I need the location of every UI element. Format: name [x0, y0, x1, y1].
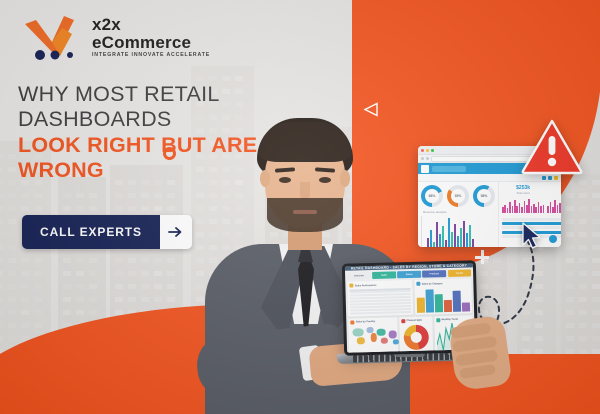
bar: [448, 218, 450, 247]
building-window: [89, 297, 97, 302]
bar: [445, 240, 447, 247]
building-window: [76, 310, 84, 315]
mini-bar: [531, 206, 533, 213]
mini-bar: [502, 207, 504, 213]
building-window: [128, 297, 136, 302]
building-window: [0, 323, 3, 328]
bar: [436, 222, 438, 247]
kpi-group: $253kTotal orders$253kTotal revenue: [502, 185, 561, 195]
card-title: Sales by Category: [422, 282, 443, 286]
building-window: [8, 219, 16, 224]
building-window: [196, 271, 204, 276]
toolbar-icon-1[interactable]: [542, 176, 546, 180]
bar: [439, 234, 441, 247]
building-window: [63, 310, 71, 315]
building-window: [0, 219, 3, 224]
building-window: [63, 206, 71, 211]
building-window: [141, 284, 149, 289]
building-window: [0, 167, 3, 172]
building-window: [63, 258, 71, 263]
building-window: [21, 284, 29, 289]
mini-bar: [538, 202, 540, 213]
building-window: [8, 232, 16, 237]
building-window: [0, 180, 3, 185]
hair-front: [259, 122, 351, 162]
dashboard-toolbar: [418, 174, 561, 182]
building-window: [579, 284, 587, 289]
category-bar: [453, 291, 461, 311]
building-window: [34, 323, 42, 328]
building-window: [89, 193, 97, 198]
building-window: [154, 258, 162, 263]
building-window: [76, 284, 84, 289]
building-window: [592, 206, 600, 211]
building-window: [63, 297, 71, 302]
card-sales-performance[interactable]: Sales Performance: [347, 280, 413, 316]
building-window: [115, 297, 123, 302]
building-window: [592, 284, 600, 289]
building-window: [0, 297, 3, 302]
map-region: [371, 333, 377, 342]
building-window: [579, 336, 587, 341]
building-window: [63, 284, 71, 289]
map-region: [357, 337, 365, 344]
kpi-label: Total revenue: [547, 192, 561, 195]
building-window: [141, 258, 149, 263]
building-window: [8, 271, 16, 276]
mini-bar: [512, 206, 514, 213]
gauge-value: 68%: [425, 189, 439, 203]
eye-left: [279, 177, 291, 183]
bar: [451, 232, 453, 247]
mini-bar: [507, 208, 509, 213]
card-title-row: Sales by Country: [350, 319, 395, 324]
building-window: [76, 193, 84, 198]
building-window: [579, 232, 587, 237]
building-window: [8, 167, 16, 172]
building-window: [566, 193, 574, 198]
map-region: [393, 339, 399, 344]
bar: [433, 242, 435, 247]
building-window: [154, 284, 162, 289]
mini-bar: [526, 205, 528, 213]
kpi-value: $253k: [547, 185, 561, 191]
building-window: [592, 219, 600, 224]
building-window: [209, 76, 217, 81]
building-window: [34, 193, 42, 198]
eye-right: [319, 177, 331, 183]
kpi-tile: $253kTotal revenue: [547, 185, 561, 195]
building-window: [592, 258, 600, 263]
category-bar: [462, 302, 470, 311]
map-region: [353, 328, 364, 336]
circle-outline-marker-icon: [163, 147, 176, 160]
mini-bar: [543, 205, 545, 213]
building-window: [89, 284, 97, 289]
building-window: [128, 284, 136, 289]
building-window: [115, 258, 123, 263]
building-window: [34, 284, 42, 289]
building-window: [0, 310, 3, 315]
mini-bar: [516, 206, 518, 213]
bar: [427, 238, 429, 247]
gauge-value: 58%: [477, 189, 491, 203]
building-window: [579, 206, 587, 211]
building-window: [196, 284, 204, 289]
building-window: [196, 193, 204, 198]
world-map-chart: [350, 325, 395, 353]
building-window: [592, 310, 600, 315]
building-window: [141, 271, 149, 276]
building-window: [8, 206, 16, 211]
building-window: [141, 297, 149, 302]
building-window: [0, 206, 3, 211]
card-title: Channel Split: [406, 319, 421, 322]
building-window: [8, 336, 16, 341]
building-window: [579, 245, 587, 250]
map-region: [377, 329, 386, 336]
card-title: Sales Performance: [355, 283, 377, 287]
building-window: [592, 245, 600, 250]
building-window: [128, 271, 136, 276]
category-bar: [444, 300, 452, 311]
building-window: [8, 297, 16, 302]
donut-chart: [403, 325, 429, 351]
call-experts-button[interactable]: CALL EXPERTS: [22, 215, 192, 249]
building-window: [0, 154, 3, 159]
mini-bar: [552, 207, 554, 213]
building-window: [0, 284, 3, 289]
laptop-row-top: Sales Performance Sales by Category: [345, 278, 474, 318]
building-window: [76, 271, 84, 276]
building-window: [592, 180, 600, 185]
building-window: [579, 180, 587, 185]
mini-bar: [528, 199, 530, 213]
building-window: [0, 232, 3, 237]
window-minimize-icon[interactable]: [426, 149, 429, 152]
building-window: [154, 193, 162, 198]
card-title: Sales by Country: [356, 320, 376, 324]
arrow-right-icon[interactable]: [160, 215, 192, 249]
building-window: [115, 284, 123, 289]
building-window: [89, 310, 97, 315]
ear-right: [340, 170, 350, 187]
building-window: [592, 297, 600, 302]
building-window: [8, 245, 16, 250]
brand-logo[interactable]: x2x eCommerce INTEGRATE INNOVATE ACCELER…: [22, 12, 210, 62]
building-window: [579, 271, 587, 276]
dashboard-tab[interactable]: Trends: [448, 269, 472, 277]
mouse-cursor-icon: [521, 222, 543, 250]
mini-bar: [519, 203, 521, 213]
dashboard-tab[interactable]: Products: [422, 270, 446, 278]
dashboard-tab[interactable]: Sales: [372, 271, 396, 279]
building-window: [235, 76, 243, 81]
chart-label: Revenue analysis: [423, 210, 495, 214]
bar: [442, 226, 444, 247]
building-window: [21, 271, 29, 276]
mini-bar: [557, 205, 559, 213]
building-window: [592, 193, 600, 198]
search-input[interactable]: [432, 166, 466, 172]
building-window: [76, 297, 84, 302]
building-window: [8, 323, 16, 328]
building-window: [196, 232, 204, 237]
building-window: [196, 76, 204, 81]
mini-bar: [533, 204, 535, 213]
mini-bar-chart-right: [547, 198, 561, 213]
building-window: [167, 297, 175, 302]
building-window: [579, 193, 587, 198]
gauge-chart-group: 68%35%58%: [421, 185, 495, 207]
kpi-tile: $253kTotal orders: [502, 185, 544, 195]
building-window: [579, 323, 587, 328]
building-window: [141, 193, 149, 198]
table-body: [349, 287, 411, 314]
beard: [267, 198, 343, 232]
mini-bar: [550, 202, 552, 213]
building-window: [196, 245, 204, 250]
mouth: [293, 210, 317, 214]
building-window: [579, 258, 587, 263]
building-window: [21, 258, 29, 263]
mini-bar: [524, 201, 526, 213]
brand-tagline: INTEGRATE INNOVATE ACCELERATE: [92, 53, 210, 58]
building-window: [21, 310, 29, 315]
building-window: [128, 258, 136, 263]
building-window: [21, 297, 29, 302]
window-close-icon[interactable]: [421, 149, 424, 152]
building-window: [8, 180, 16, 185]
building-window: [0, 271, 3, 276]
map-icon: [350, 320, 354, 324]
building-window: [63, 193, 71, 198]
donut-icon: [401, 319, 405, 323]
card-title-row: Sales by Category: [416, 280, 469, 285]
brand-name-line2: eCommerce: [92, 34, 210, 51]
building-window: [89, 271, 97, 276]
line-icon: [436, 318, 440, 322]
mini-bar: [554, 200, 556, 213]
mini-bar: [547, 206, 549, 213]
building-window: [196, 258, 204, 263]
building-window: [0, 336, 3, 341]
window-maximize-icon[interactable]: [431, 149, 434, 152]
card-sales-by-category[interactable]: Sales by Category: [414, 278, 472, 314]
building-window: [167, 206, 175, 211]
building-window: [592, 232, 600, 237]
building-window: [128, 193, 136, 198]
mini-bar: [509, 202, 511, 213]
bar: [430, 230, 432, 247]
building-window: [34, 297, 42, 302]
brand-name-line1: x2x: [92, 16, 210, 33]
building-window: [63, 271, 71, 276]
building-window: [196, 206, 204, 211]
mini-bar-chart-left: [502, 198, 544, 213]
dashboard-tab[interactable]: Overview: [347, 272, 371, 280]
building-window: [34, 206, 42, 211]
building-window: [222, 76, 230, 81]
card-channel-split[interactable]: Channel Split: [399, 316, 433, 353]
building-window: [8, 193, 16, 198]
building-window: [0, 245, 3, 250]
building-window: [34, 271, 42, 276]
mini-bar: [521, 207, 523, 213]
bar-chart-icon: [416, 282, 420, 286]
kpi-label: Total orders: [502, 192, 544, 195]
building-window: [76, 206, 84, 211]
back-icon[interactable]: [421, 157, 424, 160]
building-window: [21, 206, 29, 211]
category-bar: [426, 289, 434, 312]
building-window: [8, 284, 16, 289]
building-window: [167, 284, 175, 289]
card-sales-by-country[interactable]: Sales by Country: [348, 317, 398, 353]
warning-triangle-icon: [521, 119, 583, 175]
kpi-value: $253k: [502, 185, 544, 191]
gauge-chart: 35%: [447, 185, 469, 207]
building-window: [566, 206, 574, 211]
finger-4: [459, 364, 496, 379]
building-window: [8, 310, 16, 315]
card-title-row: Channel Split: [401, 318, 430, 323]
mini-bar: [559, 203, 561, 213]
building-window: [167, 271, 175, 276]
building-window: [89, 258, 97, 263]
building-window: [115, 271, 123, 276]
building-window: [34, 258, 42, 263]
mini-bar: [514, 200, 516, 213]
ear-left: [260, 170, 270, 187]
category-bar-chart: [416, 286, 470, 313]
building-window: [579, 310, 587, 315]
map-region: [381, 338, 388, 344]
brand-wordmark: x2x eCommerce INTEGRATE INNOVATE ACCELER…: [92, 16, 210, 58]
table-icon: [349, 283, 353, 287]
building-window: [76, 258, 84, 263]
gauge-chart: 58%: [473, 185, 495, 207]
building-window: [115, 206, 123, 211]
building-window: [592, 336, 600, 341]
table-row: [502, 218, 561, 221]
toolbar-icon-2[interactable]: [548, 176, 552, 180]
gauge-chart: 68%: [421, 185, 443, 207]
building-window: [196, 219, 204, 224]
building-window: [0, 193, 3, 198]
category-bar: [435, 295, 443, 312]
card-title: Monthly Trend: [441, 318, 457, 321]
building-window: [579, 219, 587, 224]
laptop-trackpad-notch: [395, 354, 425, 357]
building-window: [141, 206, 149, 211]
building-window: [592, 323, 600, 328]
building-window: [154, 297, 162, 302]
menu-grid-icon[interactable]: [421, 165, 429, 173]
building-window: [8, 258, 16, 263]
mini-bar: [535, 207, 537, 213]
building-window: [0, 258, 3, 263]
building-window: [34, 310, 42, 315]
shopping-cart-x-logo-icon: [22, 12, 84, 62]
building-window: [579, 297, 587, 302]
mini-bar: [504, 205, 506, 213]
category-bar: [417, 298, 425, 312]
building-window: [21, 323, 29, 328]
building-window: [8, 154, 16, 159]
building-window: [196, 297, 204, 302]
map-region: [389, 330, 397, 338]
banner-canvas: x2x eCommerce INTEGRATE INNOVATE ACCELER…: [0, 0, 600, 414]
toolbar-icon-3[interactable]: [554, 176, 558, 180]
building-window: [154, 206, 162, 211]
building-window: [128, 206, 136, 211]
building-window: [21, 193, 29, 198]
call-experts-label: CALL EXPERTS: [22, 215, 160, 249]
forward-icon[interactable]: [426, 157, 429, 160]
building-window: [154, 271, 162, 276]
building-window: [566, 219, 574, 224]
gauge-value: 35%: [451, 189, 465, 203]
building-window: [115, 193, 123, 198]
building-window: [592, 271, 600, 276]
building-window: [167, 193, 175, 198]
building-window: [89, 206, 97, 211]
dashboard-tab[interactable]: Stores: [397, 271, 421, 279]
table-row: [350, 311, 411, 315]
building-window: [167, 258, 175, 263]
mini-bar: [540, 206, 542, 213]
